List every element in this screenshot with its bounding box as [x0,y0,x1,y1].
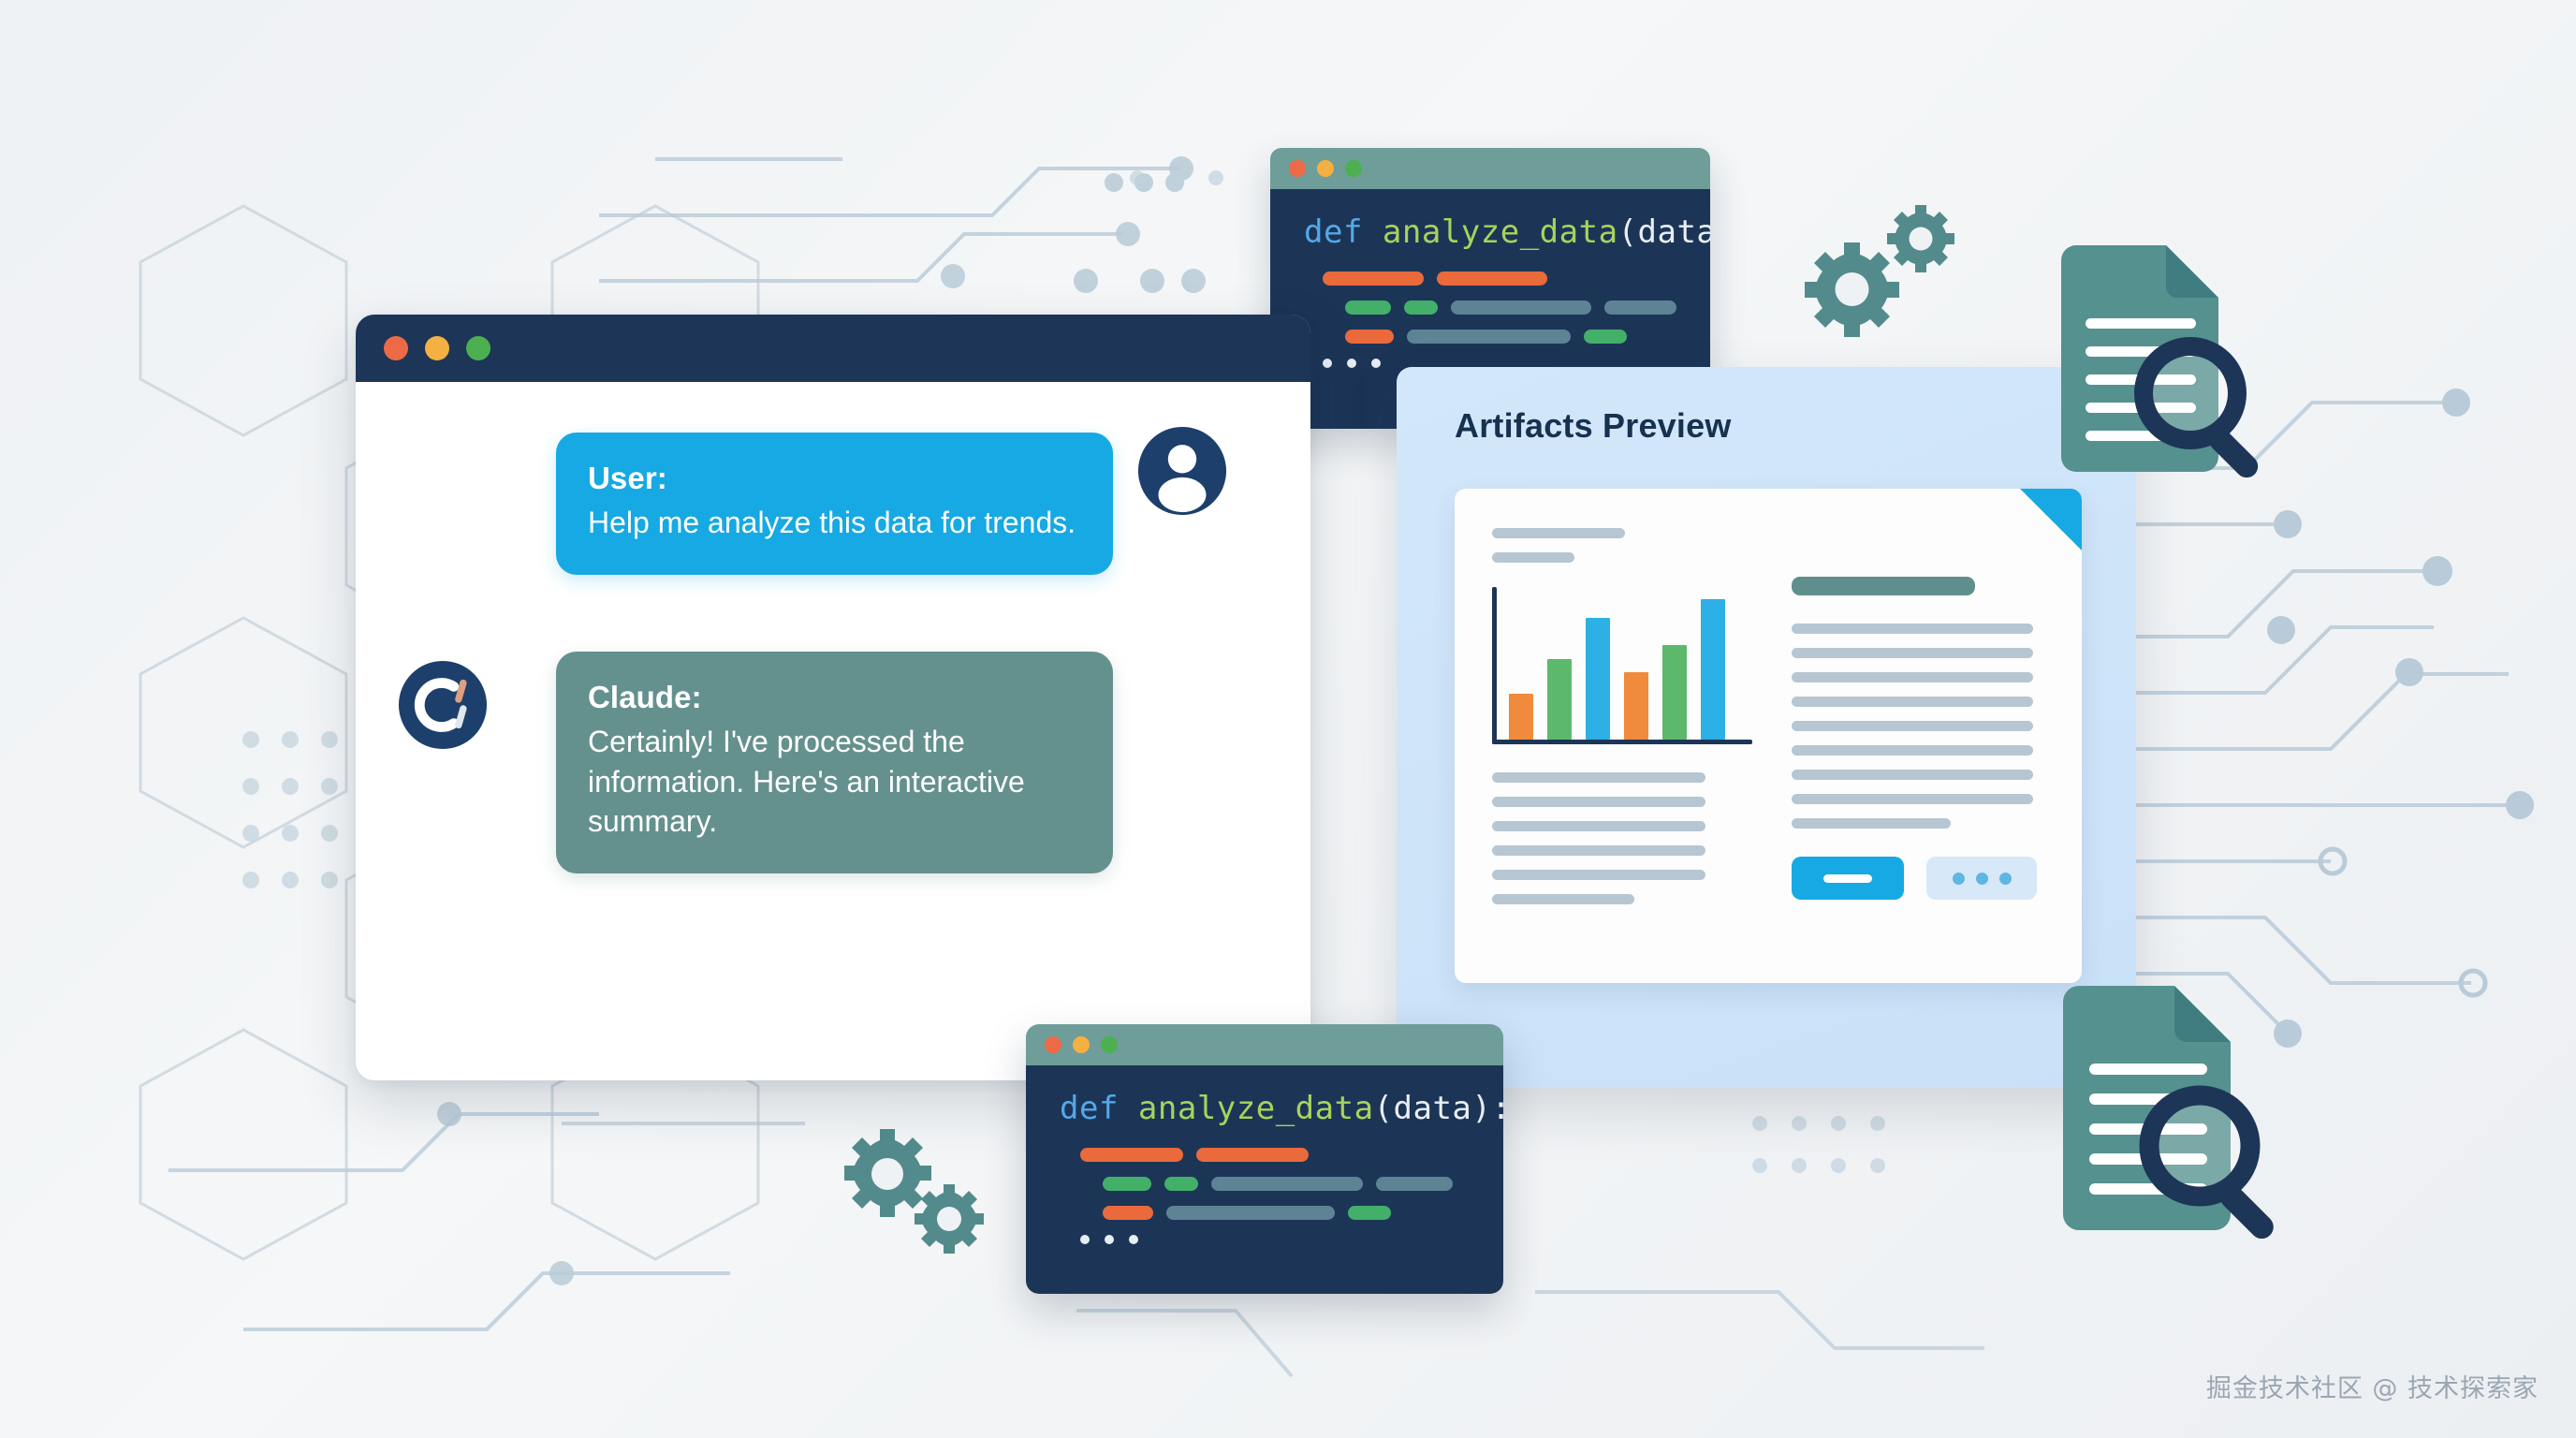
artifacts-preview-panel[interactable]: Artifacts Preview [1397,367,2136,1088]
close-icon[interactable] [384,336,408,360]
chart-bar [1586,618,1610,740]
code-window-bottom-titlebar[interactable] [1026,1024,1503,1065]
chart-bar [1701,599,1725,740]
placeholder-body-line [1792,770,2033,780]
chat-role-label: Claude: [588,678,1081,716]
code-keyword: def [1060,1090,1119,1127]
placeholder-body-line [1492,845,1705,856]
claude-logo-icon [397,659,489,751]
close-icon[interactable] [1289,160,1306,177]
placeholder-body-line [1792,624,2033,634]
minimize-icon[interactable] [1317,160,1334,177]
artifact-card-actions [1792,857,2042,900]
chart-bar [1662,645,1687,740]
chart-bar [1509,694,1533,740]
code-params: (data): [1618,213,1710,251]
chat-window[interactable]: User: Help me analyze this data for tren… [356,315,1310,1080]
minimize-icon[interactable] [425,336,449,360]
code-window-bottom[interactable]: def analyze_data(data): [1026,1024,1503,1294]
code-truncation-ellipsis [1060,1235,1470,1244]
circuit-nodes-right [2267,389,2534,1048]
code-window-bottom-body: def analyze_data(data): [1026,1065,1503,1294]
code-row [1304,330,1676,344]
document-search-icon [2048,976,2297,1247]
chat-transcript: User: Help me analyze this data for tren… [356,382,1310,1080]
page-fold-corner-icon [2020,489,2082,550]
code-row [1060,1148,1470,1162]
code-signature-line: def analyze_data(data): [1060,1090,1470,1127]
chat-bubble-user[interactable]: User: Help me analyze this data for tren… [556,433,1113,575]
maximize-icon[interactable] [466,336,490,360]
placeholder-title-line [1492,528,1625,538]
code-row [1304,271,1676,286]
placeholder-body-line [1492,797,1705,807]
code-function-name: analyze_data [1138,1090,1374,1127]
placeholder-body-line [1492,870,1705,880]
placeholder-body-line [1792,745,2033,756]
maximize-icon[interactable] [1345,160,1362,177]
dot-grid-left [242,731,338,888]
chat-window-titlebar[interactable] [356,315,1310,382]
artifact-bar-chart [1492,587,1752,744]
gears-icon [1786,200,1973,369]
placeholder-body-line [1792,721,2033,731]
placeholder-body-line [1792,672,2033,682]
code-signature-line: def analyze_data(data): [1304,213,1676,251]
artifact-right-column [1792,528,2042,983]
artifact-card[interactable] [1455,489,2082,983]
code-row [1060,1206,1470,1220]
code-function-name: analyze_data [1383,213,1618,251]
chart-x-axis [1492,740,1752,744]
maximize-icon[interactable] [1101,1036,1118,1053]
chart-bar [1547,659,1572,740]
chat-message-text: Help me analyze this data for trends. [588,503,1081,543]
close-icon[interactable] [1045,1036,1061,1053]
code-placeholder-rows [1304,271,1676,344]
placeholder-body-line [1492,772,1705,783]
chat-message-text: Certainly! I've processed the informatio… [588,722,1081,842]
placeholder-title-line [1492,552,1574,563]
gears-icon [844,1120,1032,1281]
chart-y-axis [1492,587,1497,744]
artifact-left-column [1492,528,1752,983]
placeholder-body-line [1492,894,1634,904]
chat-role-label: User: [588,459,1081,497]
primary-action-button[interactable] [1792,857,1904,900]
code-row [1060,1177,1470,1191]
code-window-top-titlebar[interactable] [1270,148,1710,189]
scene-root: def analyze_data(data): [0,0,2576,1438]
placeholder-body-line [1492,821,1705,831]
placeholder-body-line [1792,794,2033,804]
circuit-traces-right [2134,403,2518,1030]
code-placeholder-rows [1060,1148,1470,1220]
chart-bar [1624,672,1648,740]
placeholder-body-line [1792,818,1951,829]
more-options-button[interactable] [1926,857,2037,900]
placeholder-body-line [1792,648,2033,658]
chart-bars [1509,587,1745,740]
artifacts-panel-title: Artifacts Preview [1455,406,1732,446]
code-keyword: def [1304,213,1363,251]
watermark-text: 掘金技术社区 @ 技术探索家 [2206,1368,2539,1404]
user-avatar-icon [1136,425,1228,517]
document-search-icon [2048,236,2290,487]
placeholder-heading-bar [1792,577,1975,595]
code-params: (data): [1374,1090,1503,1127]
chat-bubble-assistant[interactable]: Claude: Certainly! I've processed the in… [556,652,1113,873]
minimize-icon[interactable] [1073,1036,1090,1053]
code-row [1304,301,1676,315]
placeholder-body-line [1792,697,2033,707]
